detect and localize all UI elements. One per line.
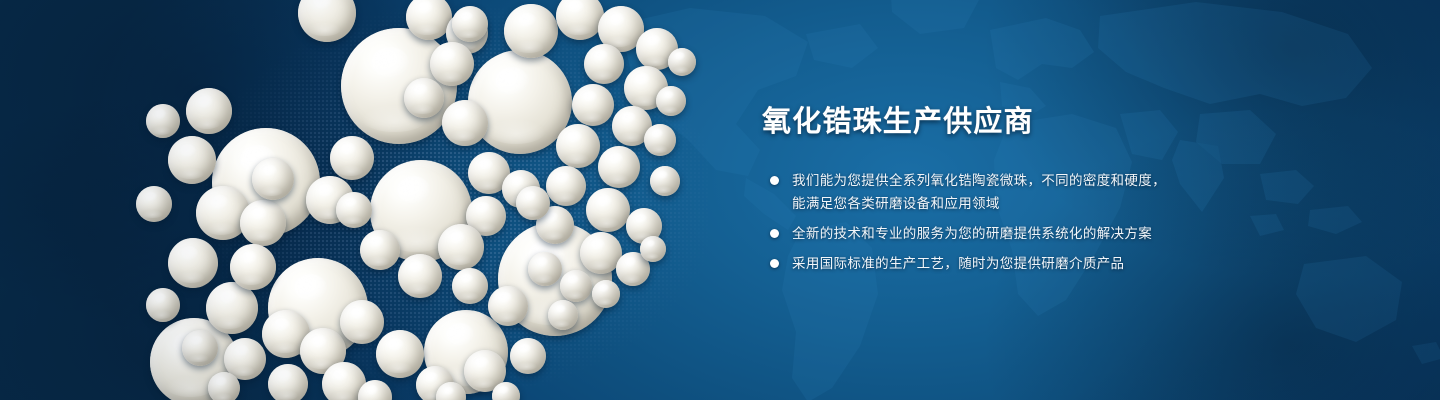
hero-banner: 氧化锆珠生产供应商 我们能为您提供全系列氧化锆陶瓷微珠，不同的密度和硬度， 能满… xyxy=(0,0,1440,400)
background-vignette xyxy=(0,0,1440,400)
